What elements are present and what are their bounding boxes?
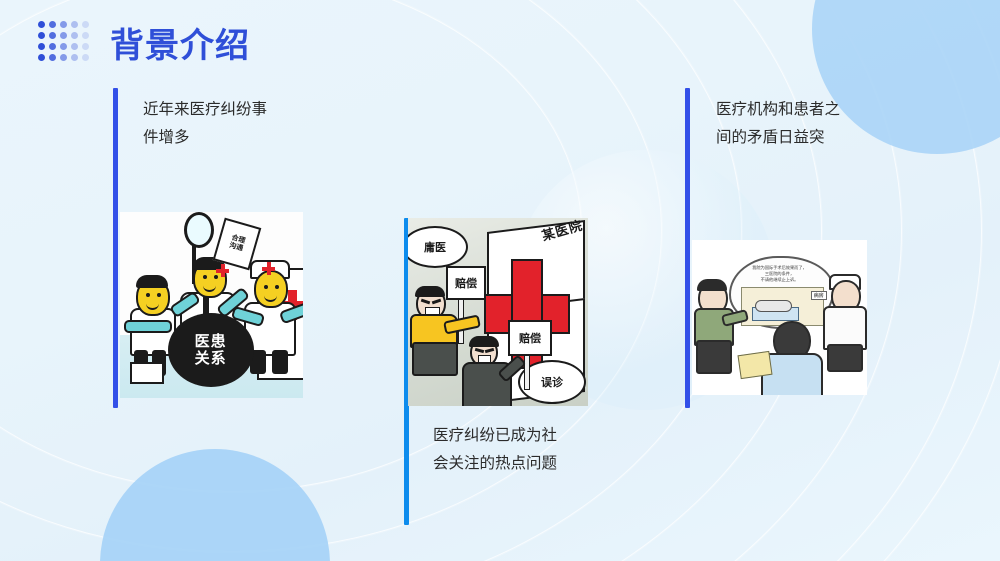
label-ward: 病房	[811, 291, 827, 300]
accent-bar-right	[685, 88, 690, 408]
thought-bubble-text: 我院为国际手术后效果而了， 三医院的条件， 不请他继续止上诉。	[711, 265, 848, 283]
image-hospital-ward-dispute: 我院为国际手术后效果而了， 三医院的条件， 不请他继续止上诉。 病房	[692, 240, 867, 395]
caption-middle: 医疗纠纷已成为社 会关注的热点问题	[433, 422, 643, 478]
page-title: 背景介绍	[110, 18, 250, 67]
label-doctor-patient-relationship: 医患 关系	[168, 313, 254, 387]
placard-compensation-1: 赔偿	[446, 266, 486, 300]
image-medical-dispute-protest: 某医院 庸医 误诊 赔偿 赔偿	[408, 218, 588, 406]
slide: 背景介绍 近年来医疗纠纷事 件增多	[0, 0, 1000, 561]
caption-left: 近年来医疗纠纷事 件增多	[143, 96, 343, 152]
caption-right: 医疗机构和患者之 间的矛盾日益突	[716, 96, 926, 152]
decor-circle-bottom-left	[100, 449, 330, 561]
dot-grid-icon	[38, 21, 93, 65]
accent-bar-left	[113, 88, 118, 408]
placard-compensation-2: 赔偿	[508, 320, 552, 356]
image-doctor-patient-relationship: 合理 沟通 医患 关系	[120, 212, 303, 398]
bubble-quack-doctor: 庸医	[408, 226, 468, 268]
